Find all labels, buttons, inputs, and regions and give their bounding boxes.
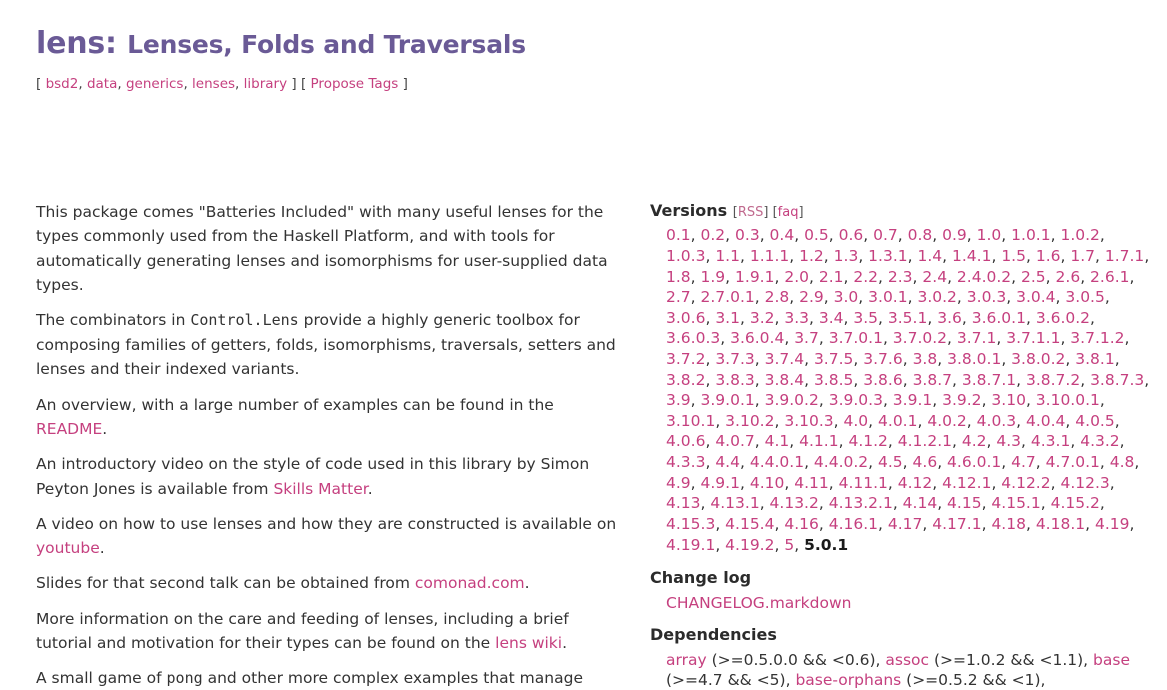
- description-paragraph: An overview, with a large number of exam…: [36, 393, 624, 442]
- rss-link[interactable]: RSS: [738, 205, 764, 220]
- version-link-1.0.2[interactable]: 1.0.2: [1060, 226, 1099, 244]
- version-separator: ,: [962, 309, 972, 327]
- version-link-1.4[interactable]: 1.4: [917, 247, 942, 265]
- version-separator: ,: [1065, 412, 1075, 430]
- version-link-3.7.3[interactable]: 3.7.3: [715, 350, 754, 368]
- version-link-2.6[interactable]: 2.6: [1056, 268, 1081, 286]
- version-link-4.0.4[interactable]: 4.0.4: [1026, 412, 1065, 430]
- version-link-3.10.2[interactable]: 3.10.2: [725, 412, 774, 430]
- version-link-3.0.6[interactable]: 3.0.6: [666, 309, 705, 327]
- version-link-1.6[interactable]: 1.6: [1036, 247, 1061, 265]
- paragraph-text: .: [525, 574, 530, 592]
- version-link-3.9.2[interactable]: 3.9.2: [942, 391, 981, 409]
- inline-link-lens-wiki[interactable]: lens wiki: [495, 634, 562, 652]
- version-separator: ,: [987, 432, 997, 450]
- version-separator: ,: [903, 453, 913, 471]
- version-link-0.3[interactable]: 0.3: [735, 226, 760, 244]
- version-link-4.11.1[interactable]: 4.11.1: [839, 474, 888, 492]
- version-separator: ,: [1100, 494, 1105, 512]
- version-link-3.8.4[interactable]: 3.8.4: [765, 371, 804, 389]
- version-separator: ,: [858, 288, 868, 306]
- version-separator: ,: [705, 453, 715, 471]
- version-separator: ,: [908, 247, 918, 265]
- version-link-2.6.1[interactable]: 2.6.1: [1090, 268, 1129, 286]
- version-separator: ,: [903, 350, 913, 368]
- version-link-4.15.4[interactable]: 4.15.4: [725, 515, 774, 533]
- version-separator: ,: [1100, 391, 1105, 409]
- version-link-3.7.5[interactable]: 3.7.5: [814, 350, 853, 368]
- version-separator: ,: [740, 474, 750, 492]
- version-separator: ,: [878, 515, 888, 533]
- version-link-4.13.2.1[interactable]: 4.13.2.1: [829, 494, 893, 512]
- version-separator: ,: [809, 309, 819, 327]
- version-link-3.9[interactable]: 3.9: [666, 391, 691, 409]
- version-link-1.3[interactable]: 1.3: [834, 247, 859, 265]
- version-link-4.18.1[interactable]: 4.18.1: [1036, 515, 1085, 533]
- version-separator: ,: [1016, 371, 1026, 389]
- version-separator: ,: [878, 309, 888, 327]
- version-link-2.4.0.2[interactable]: 2.4.0.2: [957, 268, 1011, 286]
- version-separator: ,: [755, 432, 765, 450]
- version-separator: ,: [740, 309, 750, 327]
- version-link-4.16.1[interactable]: 4.16.1: [829, 515, 878, 533]
- version-link-4.5[interactable]: 4.5: [878, 453, 903, 471]
- version-link-3.7.1.1[interactable]: 3.7.1.1: [1006, 329, 1060, 347]
- version-link-4.1[interactable]: 4.1: [765, 432, 790, 450]
- version-link-3.7.1.2[interactable]: 3.7.1.2: [1070, 329, 1124, 347]
- version-separator: ,: [725, 268, 735, 286]
- version-separator: ,: [927, 309, 937, 327]
- version-separator: ,: [1120, 432, 1125, 450]
- package-page: lens: Lenses, Folds and Traversals [ bsd…: [0, 0, 1167, 690]
- dependency-separator: ,: [876, 651, 886, 669]
- version-separator: ,: [715, 536, 725, 554]
- description-column: This package comes "Batteries Included" …: [36, 200, 624, 690]
- version-link-3.5[interactable]: 3.5: [853, 309, 878, 327]
- version-separator: ,: [883, 329, 893, 347]
- version-link-2.1[interactable]: 2.1: [819, 268, 844, 286]
- version-link-3.0.5[interactable]: 3.0.5: [1065, 288, 1104, 306]
- version-link-2.0[interactable]: 2.0: [784, 268, 809, 286]
- version-link-3.10.1[interactable]: 3.10.1: [666, 412, 715, 430]
- version-link-3.2[interactable]: 3.2: [750, 309, 775, 327]
- version-link-2.8[interactable]: 2.8: [765, 288, 790, 306]
- version-separator: ,: [740, 247, 750, 265]
- version-link-4.8[interactable]: 4.8: [1110, 453, 1135, 471]
- dependency-link-array[interactable]: array: [666, 651, 707, 669]
- version-link-3.8.0.2[interactable]: 3.8.0.2: [1011, 350, 1065, 368]
- changelog-body: CHANGELOG.markdown: [650, 593, 1150, 614]
- version-separator: ,: [1100, 453, 1110, 471]
- version-separator: ,: [715, 412, 725, 430]
- version-link-4.12[interactable]: 4.12: [898, 474, 933, 492]
- version-link-3.6.0.3[interactable]: 3.6.0.3: [666, 329, 720, 347]
- version-link-3.8.2[interactable]: 3.8.2: [666, 371, 705, 389]
- versions-heading: Versions [RSS] [faq]: [650, 200, 1150, 222]
- version-separator: ,: [932, 391, 942, 409]
- inline-link-skills-matter[interactable]: Skills Matter: [273, 480, 367, 498]
- version-link-3.7.1[interactable]: 3.7.1: [957, 329, 996, 347]
- inline-link-youtube[interactable]: youtube: [36, 539, 100, 557]
- version-link-2.5[interactable]: 2.5: [1021, 268, 1046, 286]
- version-separator: ,: [774, 536, 784, 554]
- version-link-3.8.6[interactable]: 3.8.6: [863, 371, 902, 389]
- version-separator: ,: [1046, 268, 1056, 286]
- version-link-0.8[interactable]: 0.8: [908, 226, 933, 244]
- version-link-3.7.2[interactable]: 3.7.2: [666, 350, 705, 368]
- dependency-range: (>=0.5.2 && <1): [901, 671, 1040, 689]
- version-link-3.3[interactable]: 3.3: [784, 309, 809, 327]
- version-separator: ,: [691, 391, 701, 409]
- version-separator: ,: [1021, 432, 1031, 450]
- version-link-4.4.0.1[interactable]: 4.4.0.1: [750, 453, 804, 471]
- version-link-0.1[interactable]: 0.1: [666, 226, 691, 244]
- paragraph-text: .: [368, 480, 373, 498]
- version-separator: ,: [917, 412, 927, 430]
- page-title: lens: Lenses, Folds and Traversals: [0, 0, 1167, 62]
- version-link-4.15[interactable]: 4.15: [947, 494, 982, 512]
- version-separator: ,: [1090, 309, 1095, 327]
- version-link-3.0[interactable]: 3.0: [834, 288, 859, 306]
- version-link-4.6.0.1[interactable]: 4.6.0.1: [947, 453, 1001, 471]
- version-separator: ,: [705, 350, 715, 368]
- version-link-1.0[interactable]: 1.0: [977, 226, 1002, 244]
- version-separator: ,: [1130, 268, 1135, 286]
- inline-code: pong: [167, 669, 203, 687]
- title-colon: :: [105, 26, 117, 61]
- version-separator: ,: [705, 247, 715, 265]
- version-link-4.13[interactable]: 4.13: [666, 494, 701, 512]
- version-separator: ,: [996, 329, 1006, 347]
- version-link-3.6.0.4[interactable]: 3.6.0.4: [730, 329, 784, 347]
- versions-heading-label: Versions: [650, 201, 727, 220]
- version-separator: ,: [774, 412, 784, 430]
- version-separator: ,: [868, 453, 878, 471]
- version-separator: ,: [715, 515, 725, 533]
- version-link-5[interactable]: 5: [784, 536, 794, 554]
- dependency-link-assoc[interactable]: assoc: [885, 651, 929, 669]
- version-link-0.6[interactable]: 0.6: [839, 226, 864, 244]
- version-link-4.0.3[interactable]: 4.0.3: [977, 412, 1016, 430]
- version-link-4.14[interactable]: 4.14: [903, 494, 938, 512]
- versions-heading-links: [RSS] [faq]: [733, 205, 804, 220]
- version-separator: ,: [1115, 350, 1120, 368]
- version-link-3.7.4[interactable]: 3.7.4: [765, 350, 804, 368]
- version-separator: ,: [789, 247, 799, 265]
- bracket-open: [: [36, 76, 41, 92]
- version-link-4.0.6[interactable]: 4.0.6: [666, 432, 705, 450]
- version-separator: ,: [824, 288, 834, 306]
- version-link-4.16[interactable]: 4.16: [784, 515, 819, 533]
- propose-tags-link[interactable]: Propose Tags: [311, 76, 399, 92]
- version-link-4.3.1[interactable]: 4.3.1: [1031, 432, 1070, 450]
- version-separator: ,: [1041, 494, 1051, 512]
- version-separator: ,: [937, 350, 947, 368]
- version-link-0.9[interactable]: 0.9: [942, 226, 967, 244]
- version-separator: ,: [982, 391, 992, 409]
- tag-separator: ,: [235, 76, 244, 92]
- version-link-4.19[interactable]: 4.19: [1095, 515, 1130, 533]
- version-separator: ,: [922, 515, 932, 533]
- version-separator: ,: [774, 268, 784, 286]
- version-link-4.17.1[interactable]: 4.17.1: [932, 515, 981, 533]
- inline-link-readme[interactable]: README: [36, 420, 102, 438]
- tag-bsd2[interactable]: bsd2: [46, 76, 79, 92]
- version-link-4.19.2[interactable]: 4.19.2: [725, 536, 774, 554]
- version-separator: ,: [839, 432, 849, 450]
- version-link-3.9.0.1[interactable]: 3.9.0.1: [701, 391, 755, 409]
- version-link-0.7[interactable]: 0.7: [873, 226, 898, 244]
- version-separator: ,: [725, 226, 735, 244]
- version-link-2.7[interactable]: 2.7: [666, 288, 691, 306]
- version-separator: ,: [819, 391, 829, 409]
- version-link-3.8.0.1[interactable]: 3.8.0.1: [947, 350, 1001, 368]
- version-link-3.8.7[interactable]: 3.8.7: [913, 371, 952, 389]
- version-link-3.0.2[interactable]: 3.0.2: [917, 288, 956, 306]
- version-link-4.7[interactable]: 4.7: [1011, 453, 1036, 471]
- version-link-1.0.1[interactable]: 1.0.1: [1011, 226, 1050, 244]
- version-separator: ,: [888, 474, 898, 492]
- version-link-4.0[interactable]: 4.0: [844, 412, 869, 430]
- version-link-3.5.1[interactable]: 3.5.1: [888, 309, 927, 327]
- version-link-1.8[interactable]: 1.8: [666, 268, 691, 286]
- inline-link-comonad-com[interactable]: comonad.com: [415, 574, 525, 592]
- version-link-3.7.0.1[interactable]: 3.7.0.1: [829, 329, 883, 347]
- version-separator: ,: [789, 288, 799, 306]
- description-paragraph: More information on the care and feeding…: [36, 607, 624, 656]
- version-separator: ,: [784, 474, 794, 492]
- version-separator: ,: [1006, 288, 1016, 306]
- changelog-file-link[interactable]: CHANGELOG.markdown: [666, 594, 851, 612]
- version-link-3.0.4[interactable]: 3.0.4: [1016, 288, 1055, 306]
- version-separator: ,: [794, 226, 804, 244]
- version-link-3.9.1[interactable]: 3.9.1: [893, 391, 932, 409]
- version-link-4.4[interactable]: 4.4: [715, 453, 740, 471]
- dependency-separator: ,: [1083, 651, 1093, 669]
- version-separator: ,: [1026, 515, 1036, 533]
- version-link-4.9.1[interactable]: 4.9.1: [701, 474, 740, 492]
- version-link-4.18[interactable]: 4.18: [991, 515, 1026, 533]
- version-link-4.10[interactable]: 4.10: [750, 474, 785, 492]
- version-link-4.12.3[interactable]: 4.12.3: [1060, 474, 1109, 492]
- version-separator: ,: [1001, 226, 1011, 244]
- version-link-3.4[interactable]: 3.4: [819, 309, 844, 327]
- version-link-4.1.1[interactable]: 4.1.1: [799, 432, 838, 450]
- version-link-4.0.7[interactable]: 4.0.7: [715, 432, 754, 450]
- description-paragraph: Slides for that second talk can be obtai…: [36, 571, 624, 595]
- dependency-link-base-orphans[interactable]: base-orphans: [795, 671, 901, 689]
- version-link-3.1[interactable]: 3.1: [715, 309, 740, 327]
- version-link-4.3.2[interactable]: 4.3.2: [1080, 432, 1119, 450]
- version-separator: ,: [883, 391, 893, 409]
- version-link-3.8.5[interactable]: 3.8.5: [814, 371, 853, 389]
- version-separator: ,: [755, 288, 765, 306]
- version-link-4.0.5[interactable]: 4.0.5: [1075, 412, 1114, 430]
- version-link-3.8.7.1[interactable]: 3.8.7.1: [962, 371, 1016, 389]
- version-link-1.9[interactable]: 1.9: [701, 268, 726, 286]
- version-link-4.11[interactable]: 4.11: [794, 474, 829, 492]
- version-separator: ,: [947, 329, 957, 347]
- description-paragraph: The combinators in Control.Lens provide …: [36, 308, 624, 381]
- version-separator: ,: [1026, 391, 1036, 409]
- package-synopsis: Lenses, Folds and Traversals: [127, 30, 526, 59]
- version-separator: ,: [701, 494, 711, 512]
- version-link-4.15.1[interactable]: 4.15.1: [991, 494, 1040, 512]
- version-separator: ,: [705, 309, 715, 327]
- version-link-3.8.7.2[interactable]: 3.8.7.2: [1026, 371, 1080, 389]
- version-link-3.0.1[interactable]: 3.0.1: [868, 288, 907, 306]
- inline-code: Control.Lens: [190, 311, 298, 329]
- tag-generics[interactable]: generics: [126, 76, 184, 92]
- version-link-0.5[interactable]: 0.5: [804, 226, 829, 244]
- version-link-3.8.1[interactable]: 3.8.1: [1075, 350, 1114, 368]
- version-separator: ,: [888, 432, 898, 450]
- version-separator: ,: [1001, 350, 1011, 368]
- description-paragraph: An introductory video on the style of co…: [36, 452, 624, 501]
- dependency-link-base[interactable]: base: [1093, 651, 1130, 669]
- version-separator: ,: [705, 371, 715, 389]
- version-separator: ,: [1080, 371, 1090, 389]
- version-separator: ,: [893, 494, 903, 512]
- version-link-1.0.3[interactable]: 1.0.3: [666, 247, 705, 265]
- version-link-2.3[interactable]: 2.3: [888, 268, 913, 286]
- version-separator: ,: [829, 226, 839, 244]
- version-separator: ,: [898, 226, 908, 244]
- version-link-4.3.3[interactable]: 4.3.3: [666, 453, 705, 471]
- version-link-4.15.3[interactable]: 4.15.3: [666, 515, 715, 533]
- version-link-4.13.2[interactable]: 4.13.2: [770, 494, 819, 512]
- version-link-2.2[interactable]: 2.2: [853, 268, 878, 286]
- version-link-3.8[interactable]: 3.8: [913, 350, 938, 368]
- version-link-1.4.1[interactable]: 1.4.1: [952, 247, 991, 265]
- version-link-4.0.1[interactable]: 4.0.1: [878, 412, 917, 430]
- version-link-4.4.0.2[interactable]: 4.4.0.2: [814, 453, 868, 471]
- version-separator: ,: [982, 515, 992, 533]
- version-separator: ,: [858, 247, 868, 265]
- version-link-4.13.1[interactable]: 4.13.1: [710, 494, 759, 512]
- version-separator: ,: [853, 350, 863, 368]
- tag-separator: ,: [117, 76, 126, 92]
- version-separator: ,: [705, 432, 715, 450]
- version-link-3.8.3[interactable]: 3.8.3: [715, 371, 754, 389]
- tag-bar: [ bsd2, data, generics, lenses, library …: [0, 62, 1167, 92]
- rss-bracket-close: ]: [763, 205, 768, 220]
- version-link-4.6[interactable]: 4.6: [913, 453, 938, 471]
- version-link-0.2[interactable]: 0.2: [701, 226, 726, 244]
- paragraph-text: The combinators in: [36, 311, 190, 329]
- version-link-3.9.0.3[interactable]: 3.9.0.3: [829, 391, 883, 409]
- version-link-3.6.0.1[interactable]: 3.6.0.1: [972, 309, 1026, 327]
- paragraph-text: Slides for that second talk can be obtai…: [36, 574, 415, 592]
- version-link-4.7.0.1[interactable]: 4.7.0.1: [1046, 453, 1100, 471]
- version-separator: ,: [819, 515, 829, 533]
- tag-library[interactable]: library: [244, 76, 287, 92]
- version-link-3.10.3[interactable]: 3.10.3: [784, 412, 833, 430]
- dependencies-heading: Dependencies: [650, 624, 1150, 646]
- version-separator: ,: [804, 453, 814, 471]
- version-link-5.0.1[interactable]: 5.0.1: [804, 536, 848, 554]
- version-link-3.8.7.3[interactable]: 3.8.7.3: [1090, 371, 1144, 389]
- tag-data[interactable]: data: [87, 76, 117, 92]
- version-link-3.10[interactable]: 3.10: [991, 391, 1026, 409]
- dependencies-section: Dependencies array (>=0.5.0.0 && <0.6), …: [650, 624, 1150, 690]
- version-separator: ,: [952, 371, 962, 389]
- version-link-3.7.0.2[interactable]: 3.7.0.2: [893, 329, 947, 347]
- version-link-1.1[interactable]: 1.1: [715, 247, 740, 265]
- version-separator: ,: [720, 329, 730, 347]
- version-link-3.0.3[interactable]: 3.0.3: [967, 288, 1006, 306]
- version-link-4.1.2.1[interactable]: 4.1.2.1: [898, 432, 952, 450]
- version-link-4.2[interactable]: 4.2: [962, 432, 987, 450]
- version-separator: ,: [1144, 247, 1149, 265]
- version-separator: ,: [691, 226, 701, 244]
- version-link-1.5[interactable]: 1.5: [1001, 247, 1026, 265]
- version-link-1.9.1[interactable]: 1.9.1: [735, 268, 774, 286]
- tag-lenses[interactable]: lenses: [192, 76, 235, 92]
- version-separator: ,: [829, 474, 839, 492]
- version-separator: ,: [1105, 288, 1110, 306]
- package-name: lens: [36, 26, 105, 61]
- version-link-2.7.0.1[interactable]: 2.7.0.1: [701, 288, 755, 306]
- version-link-3.9.0.2[interactable]: 3.9.0.2: [765, 391, 819, 409]
- dependency-range: (>=0.5.0.0 && <0.6): [707, 651, 876, 669]
- version-separator: ,: [774, 309, 784, 327]
- bracket-close: ]: [291, 76, 296, 92]
- version-separator: ,: [834, 412, 844, 430]
- description-paragraph: A small game of pong and other more comp…: [36, 666, 624, 690]
- version-link-4.3[interactable]: 4.3: [996, 432, 1021, 450]
- version-link-4.19.1[interactable]: 4.19.1: [666, 536, 715, 554]
- version-link-3.7.6[interactable]: 3.7.6: [863, 350, 902, 368]
- version-link-4.15.2[interactable]: 4.15.2: [1051, 494, 1100, 512]
- version-link-4.12.1[interactable]: 4.12.1: [942, 474, 991, 492]
- version-separator: ,: [1085, 515, 1095, 533]
- version-link-1.2[interactable]: 1.2: [799, 247, 824, 265]
- version-separator: ,: [903, 371, 913, 389]
- version-link-0.4[interactable]: 0.4: [770, 226, 795, 244]
- version-link-4.17[interactable]: 4.17: [888, 515, 923, 533]
- version-separator: ,: [755, 391, 765, 409]
- version-link-2.9[interactable]: 2.9: [799, 288, 824, 306]
- version-separator: ,: [784, 329, 794, 347]
- version-link-4.0.2[interactable]: 4.0.2: [927, 412, 966, 430]
- version-link-4.9[interactable]: 4.9: [666, 474, 691, 492]
- version-separator: ,: [740, 453, 750, 471]
- version-separator: ,: [819, 329, 829, 347]
- faq-link[interactable]: faq: [778, 205, 799, 220]
- version-link-2.4[interactable]: 2.4: [922, 268, 947, 286]
- version-separator: ,: [1110, 474, 1115, 492]
- version-link-1.7[interactable]: 1.7: [1070, 247, 1095, 265]
- version-link-4.1.2[interactable]: 4.1.2: [848, 432, 887, 450]
- version-link-1.3.1[interactable]: 1.3.1: [868, 247, 907, 265]
- version-link-4.12.2[interactable]: 4.12.2: [1001, 474, 1050, 492]
- version-link-3.10.0.1[interactable]: 3.10.0.1: [1036, 391, 1100, 409]
- version-separator: ,: [913, 268, 923, 286]
- paragraph-text: More information on the care and feeding…: [36, 610, 569, 652]
- version-link-3.7[interactable]: 3.7: [794, 329, 819, 347]
- version-link-3.6[interactable]: 3.6: [937, 309, 962, 327]
- version-separator: ,: [760, 494, 770, 512]
- version-separator: ,: [957, 288, 967, 306]
- version-separator: ,: [819, 494, 829, 512]
- version-link-1.1.1[interactable]: 1.1.1: [750, 247, 789, 265]
- version-separator: ,: [1130, 515, 1135, 533]
- version-link-1.7.1[interactable]: 1.7.1: [1105, 247, 1144, 265]
- version-separator: ,: [755, 371, 765, 389]
- version-separator: ,: [794, 536, 804, 554]
- version-link-3.6.0.2[interactable]: 3.6.0.2: [1036, 309, 1090, 327]
